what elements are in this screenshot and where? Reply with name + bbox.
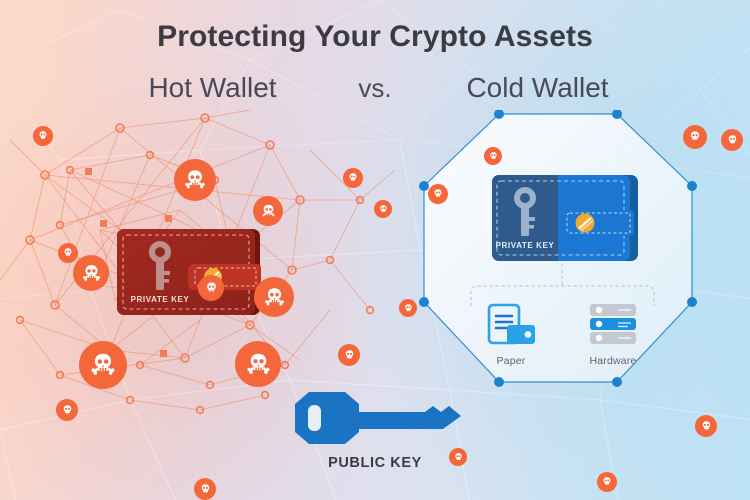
cold-wallet-card-pocket [560, 210, 634, 236]
skull-crossbones-icon [688, 130, 702, 144]
infographic-canvas: Protecting Your Crypto Assets Hot Wallet… [0, 0, 750, 500]
threat-badge [254, 277, 294, 317]
skull-crossbones-icon [347, 172, 359, 184]
skull-crossbones-icon [183, 168, 207, 192]
threat-badge [198, 275, 224, 301]
comparison-subtitle: Hot Wallet vs. Cold Wallet [0, 72, 750, 104]
cold-wallet-graphic: PRIVATE KEY [490, 172, 640, 264]
threat-badge [399, 299, 417, 317]
subtitle-cold-wallet: Cold Wallet [430, 72, 645, 104]
server-stack-icon [582, 303, 644, 347]
skull-crossbones-icon [403, 303, 414, 314]
threat-badge [484, 147, 502, 165]
hot-wallet-key-label: PRIVATE KEY [131, 295, 190, 304]
key-icon [275, 386, 475, 448]
skull-crossbones-icon [260, 203, 277, 220]
skull-crossbones-icon [601, 476, 613, 488]
page-title: Protecting Your Crypto Assets [0, 20, 750, 54]
skull-crossbones-icon [726, 134, 739, 147]
threat-badge [194, 478, 216, 500]
threat-badge [253, 196, 283, 226]
threat-badge [597, 472, 617, 492]
skull-crossbones-icon [453, 452, 464, 463]
skull-crossbones-icon [488, 151, 499, 162]
threat-badge [683, 125, 707, 149]
threat-badge [721, 129, 743, 151]
skull-crossbones-icon [81, 263, 102, 284]
skull-crossbones-icon [61, 404, 74, 417]
threat-badge [428, 184, 448, 204]
threat-badge [695, 415, 717, 437]
cold-option-paper[interactable]: Paper [466, 303, 556, 367]
skull-crossbones-icon [204, 281, 219, 296]
threat-badge [343, 168, 363, 188]
threat-badge [174, 159, 216, 201]
threat-badge [73, 255, 109, 291]
cold-option-paper-label: Paper [466, 355, 556, 367]
cold-wallet-key-label: PRIVATE KEY [496, 241, 555, 250]
skull-crossbones-icon [378, 204, 389, 215]
document-wallet-icon [483, 303, 539, 347]
threat-badge [79, 341, 127, 389]
threat-badge [449, 448, 467, 466]
cold-option-hardware[interactable]: Hardware [568, 303, 658, 367]
threat-badge [56, 399, 78, 421]
skull-crossbones-icon [432, 188, 444, 200]
cold-option-hardware-label: Hardware [568, 355, 658, 367]
threat-badge [58, 243, 78, 263]
threat-badge [33, 126, 53, 146]
skull-crossbones-icon [37, 130, 49, 142]
threat-badge [374, 200, 392, 218]
skull-crossbones-icon [245, 351, 272, 378]
skull-crossbones-icon [263, 286, 286, 309]
skull-crossbones-icon [62, 247, 74, 259]
public-key-label: PUBLIC KEY [275, 455, 475, 471]
threat-badge [235, 341, 281, 387]
skull-crossbones-icon [343, 349, 356, 362]
skull-crossbones-icon [700, 420, 713, 433]
threat-badge [338, 344, 360, 366]
public-key-block: PUBLIC KEY [275, 386, 475, 471]
subtitle-hot-wallet: Hot Wallet [105, 72, 320, 104]
hot-wallet-graphic: PRIVATE KEY [116, 226, 266, 318]
subtitle-versus: vs. [320, 73, 430, 104]
skull-crossbones-icon [199, 483, 212, 496]
skull-crossbones-icon [89, 351, 117, 379]
